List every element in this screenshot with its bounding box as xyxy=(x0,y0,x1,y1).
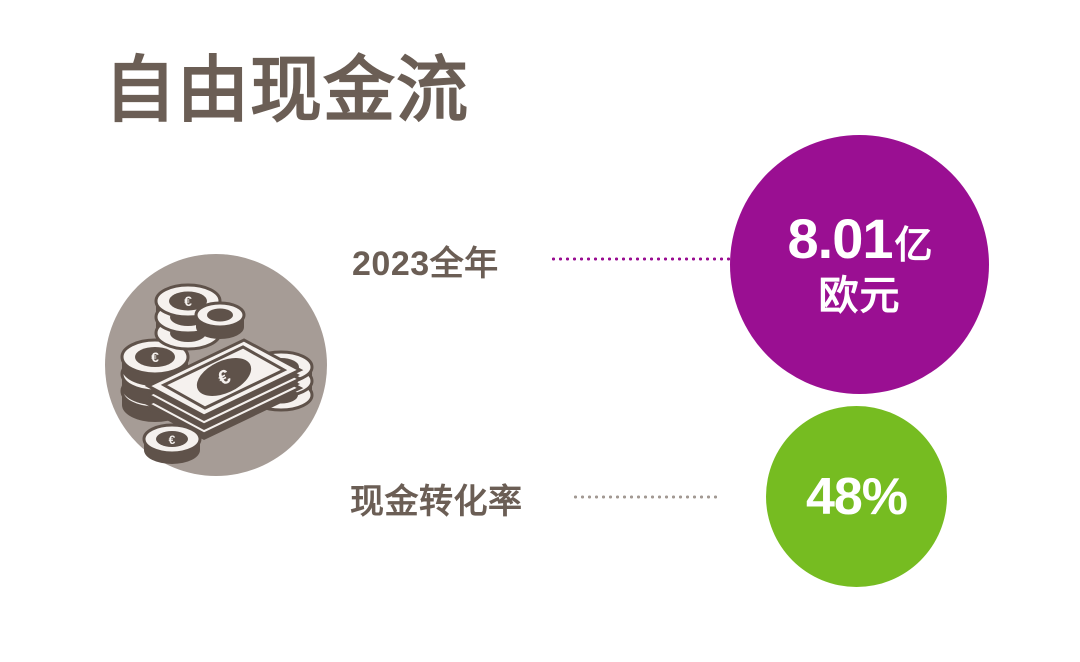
svg-text:€: € xyxy=(151,349,159,365)
coin-single: € xyxy=(144,425,200,464)
metric-label-full-year: 2023全年 xyxy=(352,236,499,285)
metric-unit-yi: 亿 xyxy=(894,227,931,265)
metric-value-row: 8.01 亿 xyxy=(787,211,931,267)
euro-money-illustration: € € xyxy=(104,253,328,477)
leader-line-full-year xyxy=(550,257,732,261)
metric-value-free-cash-flow: 8.01 xyxy=(787,211,892,267)
metric-value-cash-conversion-rate: 48% xyxy=(806,471,907,523)
metric-bubble-cash-conversion-rate: 48% xyxy=(766,406,947,587)
svg-text:€: € xyxy=(169,433,176,447)
page-title: 自由现金流 xyxy=(104,54,469,130)
leader-line-cash-conversion-rate xyxy=(572,495,720,499)
slide-canvas: 自由现金流 xyxy=(0,0,1080,662)
metric-unit-euro: 欧元 xyxy=(819,273,901,319)
metric-bubble-free-cash-flow: 8.01 亿 欧元 xyxy=(730,135,989,394)
euro-money-illustration-svg: € € xyxy=(104,253,328,477)
metric-label-cash-conversion-rate: 现金转化率 xyxy=(350,474,523,523)
svg-text:€: € xyxy=(184,293,192,309)
